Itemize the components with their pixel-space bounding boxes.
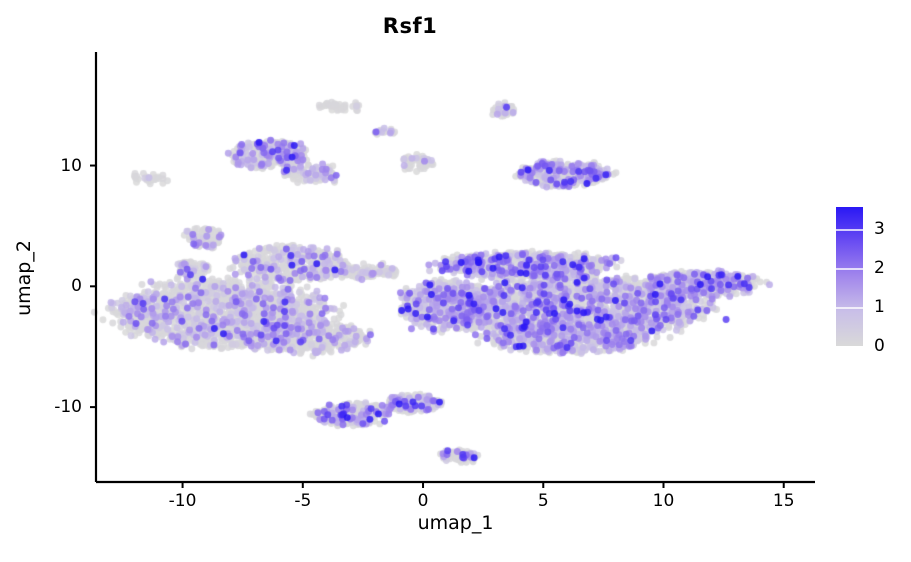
- x-axis-label: umap_1: [96, 512, 815, 534]
- colorbar-tick-mark-3: [836, 229, 863, 231]
- colorbar-tick-mark-1: [836, 307, 863, 309]
- colorbar-tick-mark-2: [836, 268, 863, 270]
- x-tick-label-1: -5: [294, 491, 311, 511]
- y-tick-label-2: 10: [30, 156, 82, 176]
- umap-feature-plot: Rsf1 -10-5051015 -10010 umap_1 umap_2 01…: [0, 0, 911, 562]
- colorbar-tick-label-0: 0: [874, 336, 885, 356]
- x-tick-label-5: 15: [773, 491, 795, 511]
- y-tick-label-1: 0: [30, 276, 82, 296]
- x-tick-label-3: 5: [538, 491, 549, 511]
- axis-spines: [96, 52, 815, 482]
- axis-tick-marks: [90, 166, 784, 488]
- y-tick-label-0: -10: [30, 397, 82, 417]
- colorbar-tick-label-3: 3: [874, 219, 885, 239]
- x-tick-label-2: 0: [418, 491, 429, 511]
- x-tick-label-4: 10: [653, 491, 675, 511]
- colorbar-tick-label-1: 1: [874, 297, 885, 317]
- y-axis-label: umap_2: [13, 198, 35, 358]
- x-tick-label-0: -10: [169, 491, 197, 511]
- colorbar-tick-label-2: 2: [874, 258, 885, 278]
- axes-frame: [0, 0, 911, 562]
